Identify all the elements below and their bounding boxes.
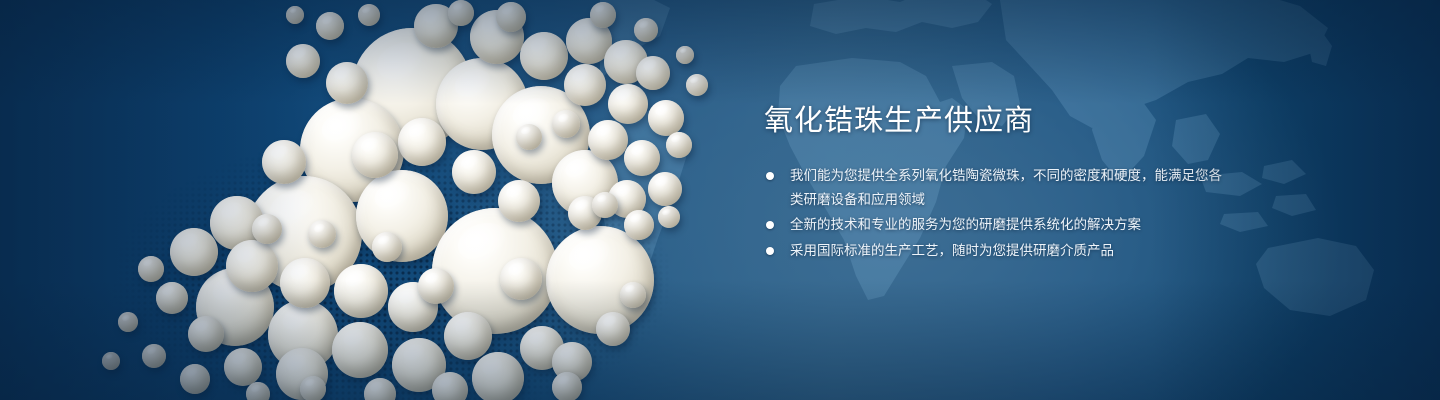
edge-vignette	[0, 0, 1440, 400]
hero-banner: 氧化锆珠生产供应商 我们能为您提供全系列氧化锆陶瓷微珠，不同的密度和硬度，能满足…	[0, 0, 1440, 400]
